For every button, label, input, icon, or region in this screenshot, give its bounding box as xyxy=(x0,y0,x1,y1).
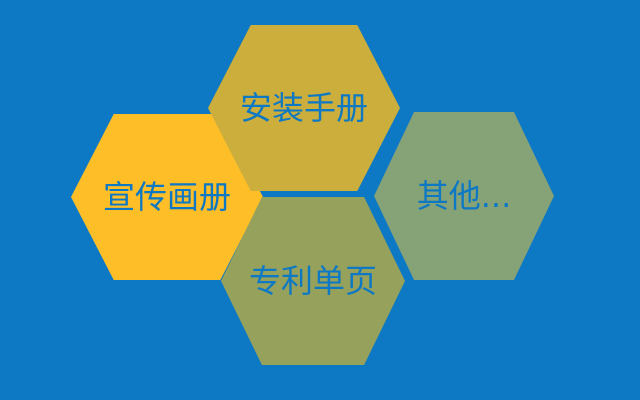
slide-canvas: 宣传画册 安装手册 专利单页 其他... xyxy=(0,0,640,400)
hexagon-cluster xyxy=(0,0,640,400)
hexagon-others[interactable] xyxy=(374,112,554,280)
